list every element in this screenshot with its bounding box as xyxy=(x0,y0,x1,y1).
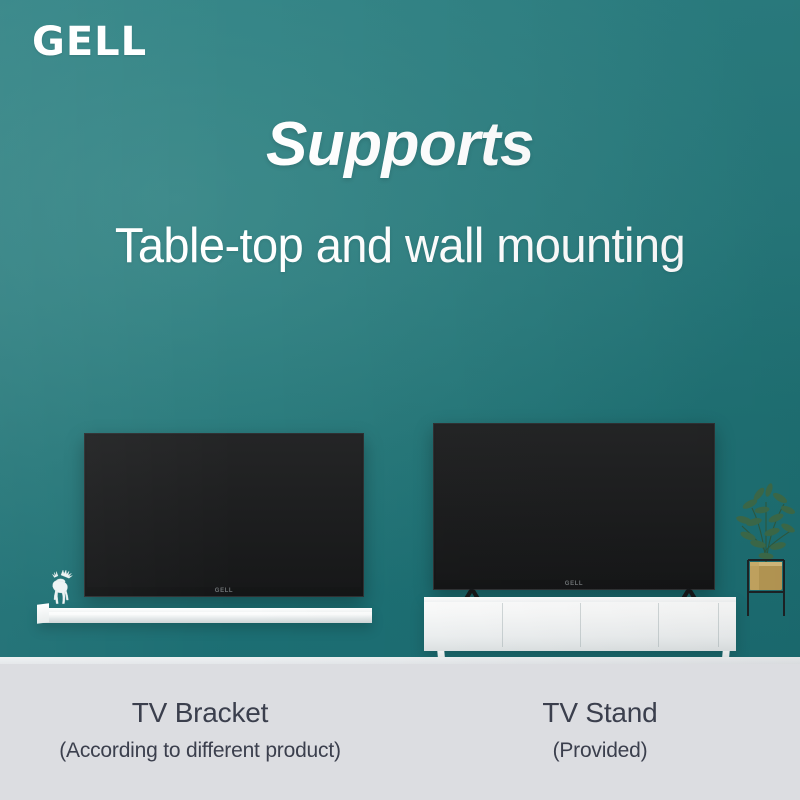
product-feature-banner: GELL Supports Table-top and wall mountin… xyxy=(0,0,800,800)
console-seam xyxy=(502,603,503,647)
caption-tv-bracket: TV Bracket (According to different produ… xyxy=(0,664,400,800)
brand-logo: GELL xyxy=(32,22,147,62)
tv-screen xyxy=(87,436,361,587)
tv-screen xyxy=(436,426,712,580)
console-seam xyxy=(718,603,719,647)
subheadline: Table-top and wall mounting xyxy=(16,218,784,274)
tv-wall-mounted: GELL xyxy=(84,433,364,597)
tv-bezel-brand: GELL xyxy=(85,587,363,596)
floor-strip xyxy=(0,657,800,664)
tv-on-stand: GELL xyxy=(433,423,715,590)
console-seam xyxy=(658,603,659,647)
caption-tv-stand: TV Stand (Provided) xyxy=(400,664,800,800)
media-console xyxy=(424,597,736,651)
potted-plant-icon xyxy=(732,452,800,622)
console-seam xyxy=(580,603,581,647)
caption-band: TV Bracket (According to different produ… xyxy=(0,664,800,800)
caption-title: TV Bracket xyxy=(0,696,400,730)
caption-subtitle: (According to different product) xyxy=(0,738,400,763)
caption-subtitle: (Provided) xyxy=(400,738,800,763)
floating-shelf xyxy=(38,608,372,623)
caption-title: TV Stand xyxy=(400,696,800,730)
wall-background: GELL Supports Table-top and wall mountin… xyxy=(0,0,800,664)
deer-figurine-icon xyxy=(44,565,76,610)
console-top xyxy=(424,597,736,602)
headline: Supports xyxy=(0,112,800,177)
